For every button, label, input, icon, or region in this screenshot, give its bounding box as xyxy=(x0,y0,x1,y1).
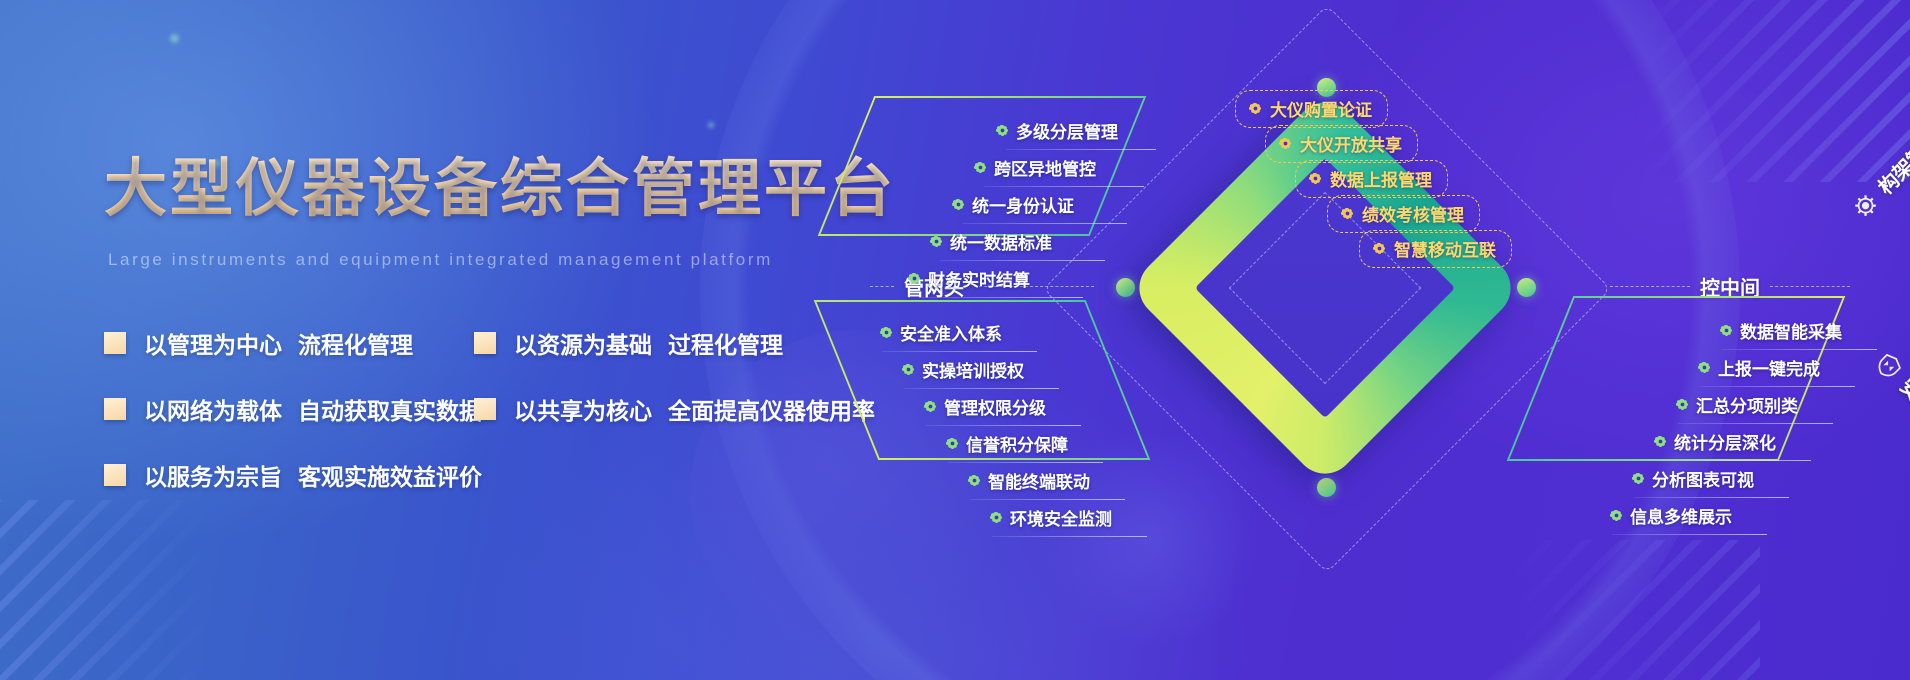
feature-label: 以资源为基础过程化管理 xyxy=(514,326,783,360)
flower-icon xyxy=(1249,102,1262,115)
list-item: 统计分层深化 xyxy=(1654,429,1877,461)
list-item: 财务实时结算 xyxy=(908,266,1156,298)
item-underline xyxy=(1634,497,1789,498)
panel-bottom-left-list: 安全准入体系 实操培训授权 管理权限分级 信誉积分保障 xyxy=(880,320,1147,542)
list-item: 跨区异地管控 xyxy=(974,155,1156,187)
page-title: 大型仪器设备综合管理平台 xyxy=(104,138,896,229)
item-underline xyxy=(940,260,1105,261)
list-item: 汇总分项别类 xyxy=(1676,392,1877,424)
architecture-diagram: 构架智能 业务周期 安全可控 xyxy=(840,0,1910,680)
feature-list: 以管理为中心流程化管理 以资源为基础过程化管理 以网络为载体自动获取真实数据 以… xyxy=(104,326,904,524)
badge-label: 智慧移动互联 xyxy=(1394,236,1496,261)
feature-row: 以网络为载体自动获取真实数据 以共享为核心全面提高仪器使用率 xyxy=(104,392,904,426)
dash-rule xyxy=(870,286,894,287)
flower-icon xyxy=(1309,172,1322,185)
feature-item: 以服务为宗旨客观实施效益评价 xyxy=(104,458,474,492)
flower-icon xyxy=(1698,361,1711,374)
quadrant-label-text: 安全可控 xyxy=(1894,371,1910,448)
item-underline xyxy=(962,223,1127,224)
flower-icon xyxy=(974,161,987,174)
list-item: 多级分层管理 xyxy=(996,118,1156,150)
badge-open-sharing[interactable]: 大仪开放共享 xyxy=(1265,125,1418,163)
flower-icon xyxy=(1610,509,1623,522)
flower-icon xyxy=(924,400,937,413)
list-item: 安全准入体系 xyxy=(880,320,1147,352)
flower-icon xyxy=(952,198,965,211)
list-item: 管理权限分级 xyxy=(924,394,1147,426)
feature-label: 以服务为宗旨客观实施效益评价 xyxy=(144,458,482,492)
panel-top-left-list: 多级分层管理 跨区异地管控 统一身份认证 统一数据标准 xyxy=(908,118,1156,303)
quadrant-label-text: 构架智能 xyxy=(1870,123,1910,200)
flower-icon xyxy=(930,235,943,248)
flower-icon xyxy=(968,474,981,487)
feature-label: 以管理为中心流程化管理 xyxy=(144,326,413,360)
item-underline xyxy=(882,351,1037,352)
item-underline xyxy=(904,388,1059,389)
badge-label: 大仪购置论证 xyxy=(1270,96,1372,121)
feature-item: 以资源为基础过程化管理 xyxy=(474,326,783,360)
list-item: 上报一键完成 xyxy=(1698,355,1877,387)
item-underline xyxy=(1612,534,1767,535)
badge-performance-review[interactable]: 绩效考核管理 xyxy=(1327,195,1480,233)
square-bullet-icon xyxy=(474,332,496,354)
feature-row: 以管理为中心流程化管理 以资源为基础过程化管理 xyxy=(104,326,904,360)
list-item: 统一身份认证 xyxy=(952,192,1156,224)
list-item: 实操培训授权 xyxy=(902,357,1147,389)
item-underline xyxy=(1656,460,1811,461)
square-bullet-icon xyxy=(104,398,126,420)
quadrant-label-framework: 构架智能 xyxy=(1846,123,1910,225)
feature-label: 以网络为载体自动获取真实数据 xyxy=(144,392,482,426)
flower-icon xyxy=(996,124,1009,137)
flower-icon xyxy=(1720,324,1733,337)
badge-label: 大仪开放共享 xyxy=(1300,131,1402,156)
item-underline xyxy=(948,462,1103,463)
list-item: 信息多维展示 xyxy=(1610,503,1877,535)
panel-bottom-right-list: 数据智能采集 上报一键完成 汇总分项别类 统计分层深化 xyxy=(1610,318,1877,540)
flower-icon xyxy=(990,511,1003,524)
badge-label: 数据上报管理 xyxy=(1330,166,1432,191)
flower-icon xyxy=(908,272,921,285)
headline-pane: 大型仪器设备综合管理平台 Large instruments and equip… xyxy=(0,0,900,680)
flower-icon xyxy=(1373,242,1386,255)
flower-icon xyxy=(1341,207,1354,220)
flower-icon xyxy=(880,326,893,339)
item-underline xyxy=(926,425,1081,426)
banner-stage: 大型仪器设备综合管理平台 Large instruments and equip… xyxy=(0,0,1910,680)
item-underline xyxy=(984,186,1144,187)
square-bullet-icon xyxy=(474,398,496,420)
flower-icon xyxy=(946,437,959,450)
item-underline xyxy=(992,536,1147,537)
badge-label: 绩效考核管理 xyxy=(1362,201,1464,226)
badge-data-report[interactable]: 数据上报管理 xyxy=(1295,160,1448,198)
flower-icon xyxy=(902,363,915,376)
badge-smart-mobile[interactable]: 智慧移动互联 xyxy=(1359,230,1512,268)
feature-item: 以网络为载体自动获取真实数据 xyxy=(104,392,474,426)
item-underline xyxy=(1700,386,1855,387)
item-underline xyxy=(1678,423,1833,424)
flower-icon xyxy=(1654,435,1667,448)
list-item: 信誉积分保障 xyxy=(946,431,1147,463)
flower-icon xyxy=(1279,137,1292,150)
gear-icon xyxy=(1847,187,1884,224)
dash-rule xyxy=(1610,286,1690,287)
list-item: 环境安全监测 xyxy=(990,505,1147,537)
flower-icon xyxy=(1676,398,1689,411)
item-underline xyxy=(1006,149,1156,150)
feature-item: 以管理为中心流程化管理 xyxy=(104,326,474,360)
item-underline xyxy=(970,499,1125,500)
flower-icon xyxy=(1632,472,1645,485)
item-underline xyxy=(1722,349,1877,350)
square-bullet-icon xyxy=(104,464,126,486)
badge-purchase-review[interactable]: 大仪购置论证 xyxy=(1235,90,1388,128)
square-bullet-icon xyxy=(104,332,126,354)
list-item: 智能终端联动 xyxy=(968,468,1147,500)
feature-label: 以共享为核心全面提高仪器使用率 xyxy=(514,392,875,426)
list-item: 分析图表可视 xyxy=(1632,466,1877,498)
item-underline xyxy=(918,297,1083,298)
feature-row: 以服务为宗旨客观实施效益评价 xyxy=(104,458,904,492)
list-item: 数据智能采集 xyxy=(1720,318,1877,350)
dash-rule xyxy=(1770,286,1850,287)
list-item: 统一数据标准 xyxy=(930,229,1156,261)
page-subtitle: Large instruments and equipment integrat… xyxy=(108,250,773,270)
feature-item: 以共享为核心全面提高仪器使用率 xyxy=(474,392,875,426)
